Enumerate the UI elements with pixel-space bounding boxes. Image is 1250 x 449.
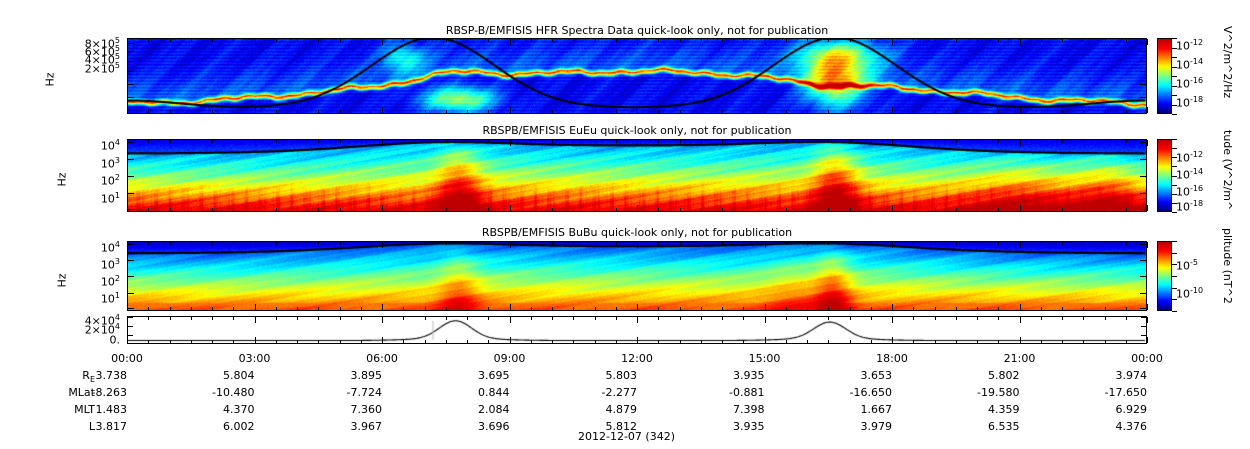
x-tickmark: [935, 317, 936, 320]
x-tickmark: [425, 110, 426, 113]
x-tickmark: [1020, 107, 1021, 113]
x-tickmark: [318, 340, 319, 343]
eueu-cbar-title: tude (V^2/m^: [1221, 130, 1234, 210]
y-tickmark: [1140, 71, 1146, 72]
colorbar-tickmark: [1172, 105, 1177, 106]
x-tickmark: [573, 317, 574, 320]
x-tickmark: [892, 337, 893, 343]
x-tickmark: [765, 337, 766, 343]
bubu-spectrogram-canvas: [128, 242, 1146, 310]
x-tickmark: [531, 307, 532, 310]
x-tickmark: [340, 340, 341, 343]
x-tickmark: [765, 39, 766, 45]
x-tickmark: [340, 317, 341, 320]
x-tickmark: [637, 317, 638, 323]
x-tickmark: [1083, 140, 1084, 143]
x-tickmark: [148, 110, 149, 113]
x-tickmark: [318, 39, 319, 42]
x-tickmark: [276, 208, 277, 211]
x-tickmark: [297, 208, 298, 211]
x-tickmark: [850, 340, 851, 343]
x-tickmark: [828, 140, 829, 143]
x-tickmark: [531, 208, 532, 211]
x-tickmark: [297, 242, 298, 245]
x-tickmark: [680, 110, 681, 113]
plot-hfr-spectra[interactable]: [127, 38, 1147, 114]
x-tickmark: [488, 39, 489, 42]
x-tickmark: [807, 307, 808, 310]
x-tickmark: [807, 110, 808, 113]
x-tickmark: [361, 307, 362, 310]
x-tickmark: [977, 317, 978, 320]
x-tickmark: [1105, 39, 1106, 42]
x-tickmark: [935, 39, 936, 42]
x-tickmark: [595, 39, 596, 42]
x-tickmark: [1083, 110, 1084, 113]
x-tickmark: [765, 140, 766, 146]
x-tickmark: [148, 317, 149, 320]
x-tickmark: [658, 110, 659, 113]
y-tickmark: [1140, 308, 1146, 309]
x-tickmark: [340, 140, 341, 143]
x-tickmark: [318, 317, 319, 320]
x-tickmark: [552, 110, 553, 113]
x-tickmark: [658, 39, 659, 42]
x-tickmark: [807, 340, 808, 343]
colorbar-tickmark: [1172, 76, 1177, 77]
y-tickmark: [128, 209, 134, 210]
x-tickmark: [701, 317, 702, 320]
ephemeris-value: 0.844: [448, 386, 510, 399]
x-tickmark: [403, 208, 404, 211]
colorbar-tickmark: [1172, 57, 1177, 58]
x-tickmark: [637, 304, 638, 310]
x-tickmark: [403, 242, 404, 245]
x-tickmark: [1147, 140, 1148, 146]
x-tickmark: [616, 242, 617, 245]
x-tickmark: [531, 242, 532, 245]
ephemeris-value: 4.359: [958, 403, 1020, 416]
x-tickmark: [148, 340, 149, 343]
ephemeris-value: -16.650: [830, 386, 892, 399]
x-tickmark: [510, 39, 511, 45]
colorbar-tickmark: [1172, 86, 1177, 87]
eueu-cbar-tick-0: 10-12: [1176, 150, 1203, 165]
x-tickmark: [191, 317, 192, 320]
x-tickmark: [1020, 337, 1021, 343]
eueu-spectrogram-canvas: [128, 140, 1146, 211]
x-tickmark: [743, 39, 744, 42]
x-tickmark: [148, 39, 149, 42]
x-tickmark: [403, 110, 404, 113]
bubu-colorbar: [1157, 241, 1172, 311]
x-tickmark: [382, 107, 383, 113]
x-tickmark: [382, 205, 383, 211]
ephemeris-value: 4.879: [575, 403, 637, 416]
x-tickmark: [446, 39, 447, 42]
eueu-yaxis-label: Hz: [56, 167, 69, 187]
bubu-ytick-3: 101: [70, 291, 120, 306]
colorbar-tickmark: [1172, 253, 1177, 254]
colorbar-tickmark: [1172, 311, 1177, 312]
x-tickmark: [871, 208, 872, 211]
x-tickmark: [425, 317, 426, 320]
x-tickmark: [255, 242, 256, 248]
plot-eueu[interactable]: [127, 139, 1147, 212]
y-tickmark: [128, 244, 134, 245]
x-tickmark: [531, 340, 532, 343]
x-tickmark: [850, 110, 851, 113]
x-tickmark: [446, 317, 447, 320]
x-tickmark: [1062, 340, 1063, 343]
x-tickmark: [552, 340, 553, 343]
x-tickmark: [956, 39, 957, 42]
x-tickmark: [913, 317, 914, 320]
x-tickmark: [765, 317, 766, 323]
x-tickmark: [786, 39, 787, 42]
colorbar-tickmark: [1172, 299, 1177, 300]
x-tickmark: [276, 340, 277, 343]
y-tickmark: [128, 317, 133, 318]
x-tickmark: [1062, 307, 1063, 310]
colorbar-tickmark: [1172, 276, 1177, 277]
x-tickmark: [871, 39, 872, 42]
x-tickmark: [1147, 205, 1148, 211]
x-tickmark: [892, 205, 893, 211]
x-tickmark: [531, 317, 532, 320]
x-tickmark: [637, 242, 638, 248]
x-tickmark: [552, 208, 553, 211]
x-tickmark: [743, 340, 744, 343]
x-tickmark: [255, 304, 256, 310]
y-tickmark: [1141, 317, 1146, 318]
eueu-ytick-3: 101: [70, 191, 120, 206]
x-tickmark: [382, 337, 383, 343]
ephemeris-value: 5.802: [958, 369, 1020, 382]
x-tickmark: [850, 140, 851, 143]
x-tickmark: [765, 304, 766, 310]
y-tickmark: [1141, 326, 1146, 327]
colorbar-tickmark: [1172, 67, 1177, 68]
ephemeris-value: 4.376: [1085, 420, 1147, 433]
x-tickmark: [1041, 110, 1042, 113]
y-tickmark: [1140, 159, 1146, 160]
x-tickmark: [276, 242, 277, 245]
x-tickmark: [616, 307, 617, 310]
x-tickmark: [340, 208, 341, 211]
x-tickmark: [531, 39, 532, 42]
ephemeris-value: 3.653: [830, 369, 892, 382]
x-tickmark: [233, 140, 234, 143]
x-tickmark: [658, 140, 659, 143]
x-tickmark: [212, 110, 213, 113]
x-tickmark: [361, 340, 362, 343]
x-tickmark: [701, 307, 702, 310]
y-tickmark: [1140, 84, 1146, 85]
x-tickmark: [935, 340, 936, 343]
y-tickmark: [128, 51, 134, 52]
x-tickmark: [382, 140, 383, 146]
x-tickmark: [616, 110, 617, 113]
x-tickmark: [1041, 39, 1042, 42]
x-tickmark: [488, 140, 489, 143]
x-tickmark: [871, 340, 872, 343]
x-tickmark: [828, 39, 829, 42]
x-tickmark: [1062, 110, 1063, 113]
bubu-cbar-tick-0: 10-5: [1176, 258, 1198, 273]
ephemeris-value: 6.002: [193, 420, 255, 433]
x-tickmark: [616, 140, 617, 143]
x-tickmark: [743, 317, 744, 320]
x-tickmark: [743, 242, 744, 245]
x-tickmark: [998, 317, 999, 320]
x-tickmark: [595, 307, 596, 310]
x-tickmark: [212, 307, 213, 310]
y-tickmark: [1140, 176, 1146, 177]
y-tickmark: [128, 43, 134, 44]
x-tickmark: [403, 140, 404, 143]
x-tickmark: [170, 110, 171, 113]
x-tickmark: [318, 242, 319, 245]
x-tickmark: [127, 242, 128, 248]
x-tickmark: [807, 39, 808, 42]
x-tickmark: [1126, 208, 1127, 211]
x-tickmark: [446, 140, 447, 143]
x-tickmark: [127, 304, 128, 310]
y-tickmark: [1140, 142, 1146, 143]
ephemeris-value: 3.935: [703, 420, 765, 433]
y-tickmark: [128, 159, 134, 160]
x-tickmark: [786, 307, 787, 310]
x-tickmark: [233, 307, 234, 310]
ephemeris-value: 3.979: [830, 420, 892, 433]
x-tickmark: [998, 208, 999, 211]
y-tickmark: [128, 142, 134, 143]
x-tickmark: [701, 140, 702, 143]
x-tickmark: [658, 340, 659, 343]
x-tickmark: [191, 340, 192, 343]
x-tickmark: [1062, 242, 1063, 245]
x-tickmark: [467, 110, 468, 113]
ephemeris-value: 5.803: [575, 369, 637, 382]
x-tickmark: [595, 110, 596, 113]
x-tickmark: [935, 140, 936, 143]
x-tickmark: [722, 242, 723, 245]
y-tickmark: [1140, 260, 1146, 261]
x-tickmark: [892, 317, 893, 323]
hfr-cbar-tick-0: 10-12: [1176, 38, 1203, 53]
ephemeris-value: 3.695: [448, 369, 510, 382]
y-tickmark: [1140, 209, 1146, 210]
x-tickmark: [403, 340, 404, 343]
x-tickmark: [1020, 205, 1021, 211]
x-tickmark: [488, 208, 489, 211]
x-tickmark: [1147, 39, 1148, 45]
y-tickmark: [128, 326, 133, 327]
x-tickmark: [658, 307, 659, 310]
x-tickmark: [701, 110, 702, 113]
bubu-cbar-title: plitude (nT^2: [1221, 228, 1234, 304]
colorbar-tickmark: [1172, 194, 1177, 195]
y-tickmark: [128, 343, 133, 344]
x-tickmark: [1126, 140, 1127, 143]
ephemeris-value: 3.967: [320, 420, 382, 433]
x-tickmark: [892, 242, 893, 248]
x-tickmark: [807, 208, 808, 211]
x-tickmark: [382, 304, 383, 310]
x-tickmark: [871, 317, 872, 320]
x-tickmark: [467, 242, 468, 245]
x-tickmark: [276, 317, 277, 320]
x-tickmark: [977, 110, 978, 113]
x-tickmark: [658, 242, 659, 245]
x-tickmark: [361, 317, 362, 320]
x-tickmark: [467, 140, 468, 143]
x-tickmark: [722, 140, 723, 143]
x-tickmark: [446, 242, 447, 245]
y-tickmark: [128, 97, 134, 98]
x-tickmark: [637, 337, 638, 343]
x-tickmark: [297, 317, 298, 320]
x-tickmark: [616, 39, 617, 42]
colorbar-tickmark: [1172, 212, 1177, 213]
hfr-cbar-tick-3: 10-18: [1176, 95, 1203, 110]
hfr-cbar-title: V^2/m^2/Hz: [1221, 26, 1234, 98]
x-tickmark: [1147, 242, 1148, 248]
x-tickmark: [318, 110, 319, 113]
x-tickmark: [871, 242, 872, 245]
bubu-ytick-0: 104: [70, 240, 120, 255]
x-tickmark: [170, 317, 171, 320]
x-tickmark: [1083, 39, 1084, 42]
x-tickmark: [956, 317, 957, 320]
x-tickmark: [403, 307, 404, 310]
x-tickmark: [595, 317, 596, 320]
y-tickmark: [1140, 43, 1146, 44]
x-tickmark: [977, 140, 978, 143]
x-tickmark: [297, 140, 298, 143]
y-tickmark: [128, 335, 133, 336]
x-tickmark: [1041, 317, 1042, 320]
x-tickmark: [297, 39, 298, 42]
x-tickmark: [743, 307, 744, 310]
x-tickmark: [297, 307, 298, 310]
x-tickmark: [828, 317, 829, 320]
x-tickmark: [573, 140, 574, 143]
x-tickmark: [913, 208, 914, 211]
x-tick-3: 09:00: [480, 352, 540, 365]
x-tickmark: [913, 307, 914, 310]
x-tickmark: [318, 307, 319, 310]
ephemeris-value: 1.483: [65, 403, 127, 416]
x-tickmark: [276, 110, 277, 113]
x-tickmark: [977, 39, 978, 42]
x-tickmark: [871, 110, 872, 113]
x-tickmark: [212, 39, 213, 42]
plot-bubu[interactable]: [127, 241, 1147, 311]
ephemeris-value: 3.738: [65, 369, 127, 382]
x-tickmark: [212, 340, 213, 343]
x-tickmark: [765, 242, 766, 248]
x-tickmark: [680, 317, 681, 320]
x-tickmark: [573, 39, 574, 42]
x-tickmark: [1062, 317, 1063, 320]
x-tickmark: [680, 340, 681, 343]
x-tickmark: [318, 140, 319, 143]
x-tickmark: [127, 205, 128, 211]
x-tickmark: [1020, 140, 1021, 146]
x-tickmark: [531, 140, 532, 143]
x-tickmark: [786, 208, 787, 211]
x-tickmark: [573, 110, 574, 113]
x-tickmark: [765, 205, 766, 211]
x-tickmark: [701, 39, 702, 42]
x-tickmark: [913, 110, 914, 113]
x-tickmark: [148, 140, 149, 143]
colorbar-tickmark: [1172, 185, 1177, 186]
x-tickmark: [127, 140, 128, 146]
x-tickmark: [361, 110, 362, 113]
x-tickmark: [255, 337, 256, 343]
x-tickmark: [743, 110, 744, 113]
x-tickmark: [1147, 317, 1148, 323]
x-tickmark: [871, 307, 872, 310]
x-tickmark: [361, 208, 362, 211]
x-tickmark: [552, 140, 553, 143]
x-tickmark: [1062, 39, 1063, 42]
y-tickmark: [128, 84, 134, 85]
x-tickmark: [956, 208, 957, 211]
x-tickmark: [233, 242, 234, 245]
x-tickmark: [467, 307, 468, 310]
x-tickmark: [531, 110, 532, 113]
x-tickmark: [191, 208, 192, 211]
x-tickmark: [573, 307, 574, 310]
y-tickmark: [1141, 335, 1146, 336]
x-tick-7: 21:00: [990, 352, 1050, 365]
x-tickmark: [170, 39, 171, 42]
ephemeris-value: -2.277: [575, 386, 637, 399]
x-tickmark: [616, 208, 617, 211]
hfr-spectrogram-canvas: [128, 39, 1146, 113]
x-tickmark: [786, 340, 787, 343]
y-tickmark: [128, 71, 134, 72]
eueu-cbar-tick-2: 10-16: [1176, 184, 1203, 199]
x-tickmark: [680, 39, 681, 42]
x-tickmark: [807, 242, 808, 245]
x-tickmark: [510, 337, 511, 343]
x-tickmark: [722, 39, 723, 42]
x-tickmark: [467, 317, 468, 320]
x-tickmark: [340, 39, 341, 42]
x-tickmark: [212, 317, 213, 320]
x-tickmark: [446, 110, 447, 113]
x-tickmark: [552, 39, 553, 42]
y-tickmark: [1141, 343, 1146, 344]
x-tickmark: [361, 140, 362, 143]
x-tickmark: [340, 110, 341, 113]
y-tickmark: [1140, 61, 1146, 62]
x-tickmark: [1105, 110, 1106, 113]
x-tickmark: [361, 39, 362, 42]
bubu-cbar-tick-1: 10-10: [1176, 286, 1203, 301]
x-tickmark: [828, 242, 829, 245]
x-tick-6: 18:00: [862, 352, 922, 365]
x-tickmark: [786, 317, 787, 320]
x-tickmark: [382, 317, 383, 323]
x-tickmark: [637, 39, 638, 45]
x-tickmark: [680, 242, 681, 245]
